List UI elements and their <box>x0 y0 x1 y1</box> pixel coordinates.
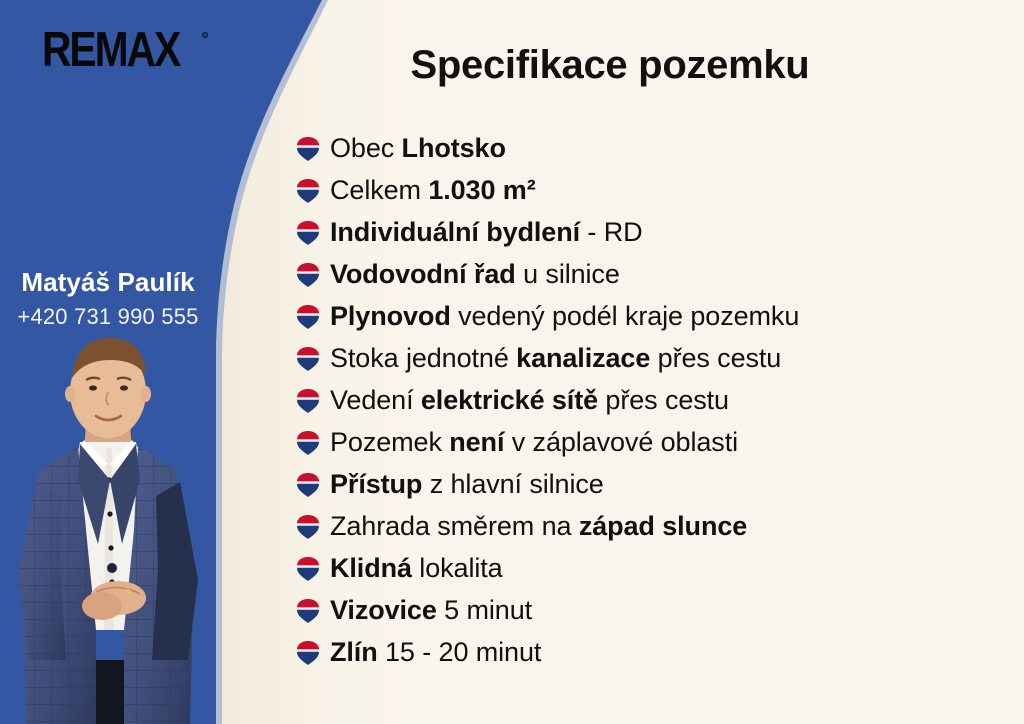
list-item-1: Obec Lhotsko <box>296 131 1024 173</box>
list-item-10-text: Zahrada směrem na západ slunce <box>330 509 747 543</box>
list-item-6-text: Stoka jednotné kanalizace přes cestu <box>330 341 781 375</box>
list-item-8: Pozemek není v záplavové oblasti <box>296 425 1024 467</box>
remax-logo: REMAX R <box>42 28 212 76</box>
list-item-7: Vedení elektrické sítě přes cestu <box>296 383 1024 425</box>
list-item-2-text: Celkem 1.030 m² <box>330 173 536 207</box>
list-item-8-text: Pozemek není v záplavové oblasti <box>330 425 738 459</box>
remax-balloon-icon <box>296 346 320 372</box>
list-item-11-text: Klidná lokalita <box>330 551 503 585</box>
list-item-13-text: Zlín 15 - 20 minut <box>330 635 541 669</box>
agent-info: Matyáš Paulík +420 731 990 555 <box>0 268 216 330</box>
list-item-12-text: Vizovice 5 minut <box>330 593 532 627</box>
ring <box>125 589 131 595</box>
agent-phone[interactable]: +420 731 990 555 <box>0 304 216 330</box>
specification-list: Obec Lhotsko Celkem 1.030 m² Individuáln… <box>296 131 1024 677</box>
jacket-button <box>107 563 117 573</box>
remax-balloon-icon <box>296 304 320 330</box>
list-item-6: Stoka jednotné kanalizace přes cestu <box>296 341 1024 383</box>
remax-balloon-icon <box>296 472 320 498</box>
spec-content: Specifikace pozemku Obec Lhotsko Celkem … <box>296 0 1024 724</box>
list-item-2: Celkem 1.030 m² <box>296 173 1024 215</box>
agent-photo <box>0 330 216 724</box>
remax-balloon-icon <box>296 220 320 246</box>
listing-spec-card: REMAX R Matyáš Paulík +420 731 990 555 <box>0 0 1024 724</box>
list-item-12: Vizovice 5 minut <box>296 593 1024 635</box>
svg-text:R: R <box>204 33 207 38</box>
list-item-3: Individuální bydlení - RD <box>296 215 1024 257</box>
page-title: Specifikace pozemku <box>296 43 924 88</box>
remax-balloon-icon <box>296 262 320 288</box>
list-item-5-text: Plynovod vedený podél kraje pozemku <box>330 299 799 333</box>
ear-right <box>141 386 151 402</box>
list-item-11: Klidná lokalita <box>296 551 1024 593</box>
ear-left <box>65 386 75 402</box>
remax-balloon-icon <box>296 430 320 456</box>
list-item-1-text: Obec Lhotsko <box>330 131 506 165</box>
list-item-4: Vodovodní řad u silnice <box>296 257 1024 299</box>
remax-wordmark: REMAX <box>42 28 181 76</box>
remax-balloon-icon <box>296 514 320 540</box>
remax-balloon-icon <box>296 640 320 666</box>
remax-balloon-icon <box>296 598 320 624</box>
remax-balloon-icon <box>296 178 320 204</box>
list-item-7-text: Vedení elektrické sítě přes cestu <box>330 383 729 417</box>
remax-balloon-icon <box>296 556 320 582</box>
list-item-5: Plynovod vedený podél kraje pozemku <box>296 299 1024 341</box>
list-item-13: Zlín 15 - 20 minut <box>296 635 1024 677</box>
list-item-9-text: Přístup z hlavní silnice <box>330 467 604 501</box>
list-item-4-text: Vodovodní řad u silnice <box>330 257 620 291</box>
list-item-3-text: Individuální bydlení - RD <box>330 215 643 249</box>
agent-name: Matyáš Paulík <box>0 268 216 298</box>
remax-balloon-icon <box>296 136 320 162</box>
remax-balloon-icon <box>296 388 320 414</box>
list-item-9: Přístup z hlavní silnice <box>296 467 1024 509</box>
list-item-10: Zahrada směrem na západ slunce <box>296 509 1024 551</box>
